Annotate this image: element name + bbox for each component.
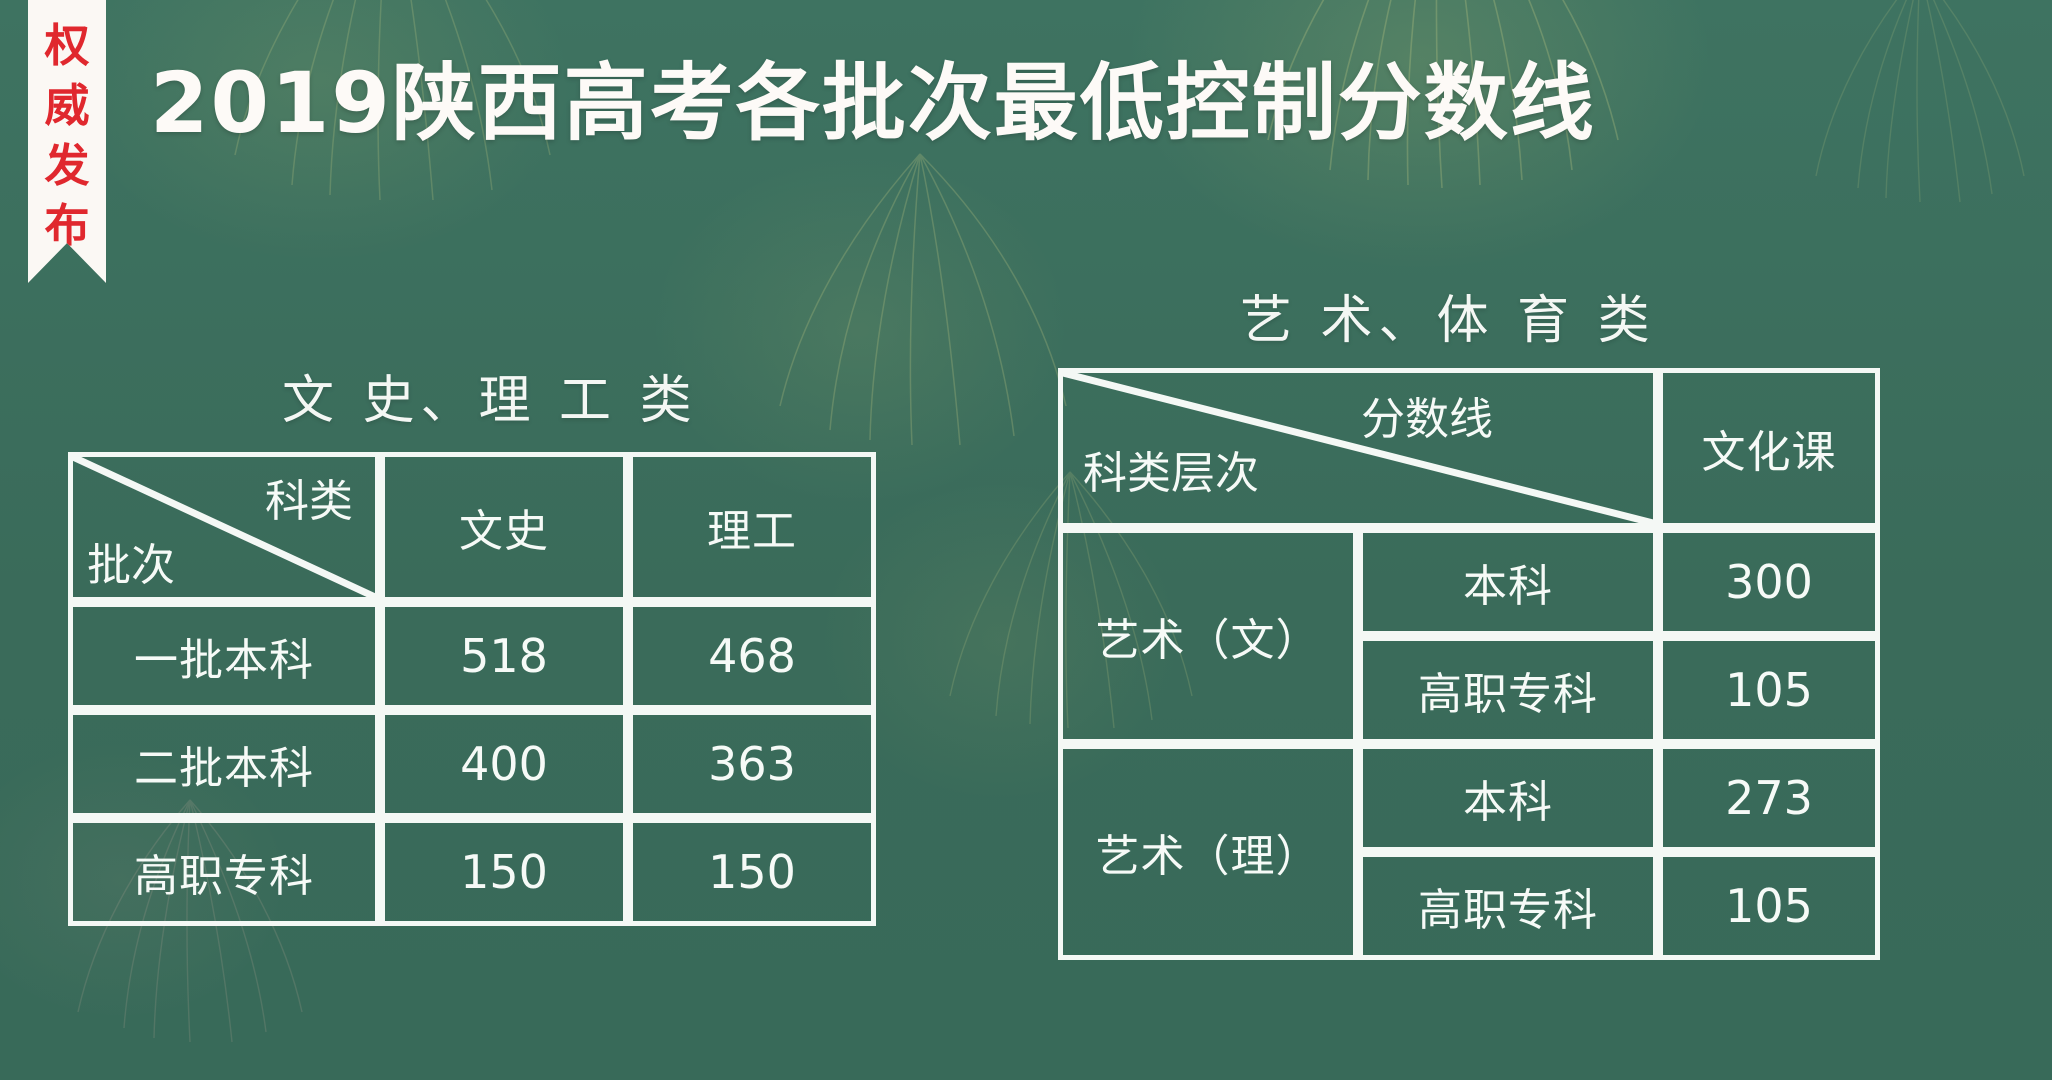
table-row: 艺术（文） 本科 300 — [1058, 528, 1880, 636]
table-liberal-science: 科类 批次 文史 理工 一批本科 518 468 二批本科 400 363 高职… — [68, 452, 876, 926]
table-row: 艺术（理） 本科 273 — [1058, 744, 1880, 852]
row-label-art-wen: 艺术（文） — [1058, 528, 1358, 744]
cell-score-art-li-benke: 273 — [1658, 744, 1880, 852]
cell-level-art-li-zhuanke: 高职专科 — [1358, 852, 1658, 960]
firework-decoration-icon — [1760, 0, 2052, 240]
row-label-art-li: 艺术（理） — [1058, 744, 1358, 960]
column-header-culture-course: 文化课 — [1658, 368, 1880, 528]
table-row: 高职专科 150 150 — [68, 818, 876, 926]
table-row: 二批本科 400 363 — [68, 710, 876, 818]
cell-score-art-wen-zhuanke: 105 — [1658, 636, 1880, 744]
table-art-sports: 分数线 科类层次 文化课 艺术（文） 本科 300 高职专科 105 艺术（理）… — [1058, 368, 1880, 960]
cell-score-art-wen-benke: 300 — [1658, 528, 1880, 636]
header-label-category-level: 科类层次 — [1083, 437, 1259, 501]
cell-wenshi-batch-2: 400 — [380, 710, 628, 818]
cell-level-art-li-benke: 本科 — [1358, 744, 1658, 852]
ribbon-char-4: 布 — [44, 196, 89, 256]
row-label-batch-2: 二批本科 — [68, 710, 380, 818]
cell-ligong-batch-3: 150 — [628, 818, 876, 926]
table-row: 科类 批次 文史 理工 — [68, 452, 876, 602]
row-label-batch-1: 一批本科 — [68, 602, 380, 710]
column-header-wenshi: 文史 — [380, 452, 628, 602]
header-cell-diagonal-split: 分数线 科类层次 — [1058, 368, 1658, 528]
table-row: 分数线 科类层次 文化课 — [1058, 368, 1880, 528]
section-caption-liberal-science: 文 史、理 工 类 — [282, 358, 698, 433]
cell-score-art-li-zhuanke: 105 — [1658, 852, 1880, 960]
header-label-batch: 批次 — [87, 529, 175, 593]
cell-ligong-batch-1: 468 — [628, 602, 876, 710]
header-label-score-line: 分数线 — [1361, 383, 1493, 447]
cell-wenshi-batch-3: 150 — [380, 818, 628, 926]
section-caption-art-sports: 艺 术、体 育 类 — [1240, 278, 1656, 353]
ribbon-char-3: 发 — [44, 136, 89, 196]
row-label-batch-3: 高职专科 — [68, 818, 380, 926]
poster-canvas: 权 威 发 布 2019陕西高考各批次最低控制分数线 文 史、理 工 类 艺 术… — [0, 0, 2052, 1080]
header-cell-diagonal-split: 科类 批次 — [68, 452, 380, 602]
ribbon-char-1: 权 — [44, 16, 89, 76]
column-header-ligong: 理工 — [628, 452, 876, 602]
cell-ligong-batch-2: 363 — [628, 710, 876, 818]
table-row: 一批本科 518 468 — [68, 602, 876, 710]
cell-wenshi-batch-1: 518 — [380, 602, 628, 710]
header-label-subject-category: 科类 — [265, 465, 353, 529]
cell-level-art-wen-benke: 本科 — [1358, 528, 1658, 636]
page-title: 2019陕西高考各批次最低控制分数线 — [150, 48, 1570, 158]
ribbon-char-2: 威 — [44, 76, 89, 136]
cell-level-art-wen-zhuanke: 高职专科 — [1358, 636, 1658, 744]
authority-release-ribbon: 权 威 发 布 — [28, 0, 106, 283]
